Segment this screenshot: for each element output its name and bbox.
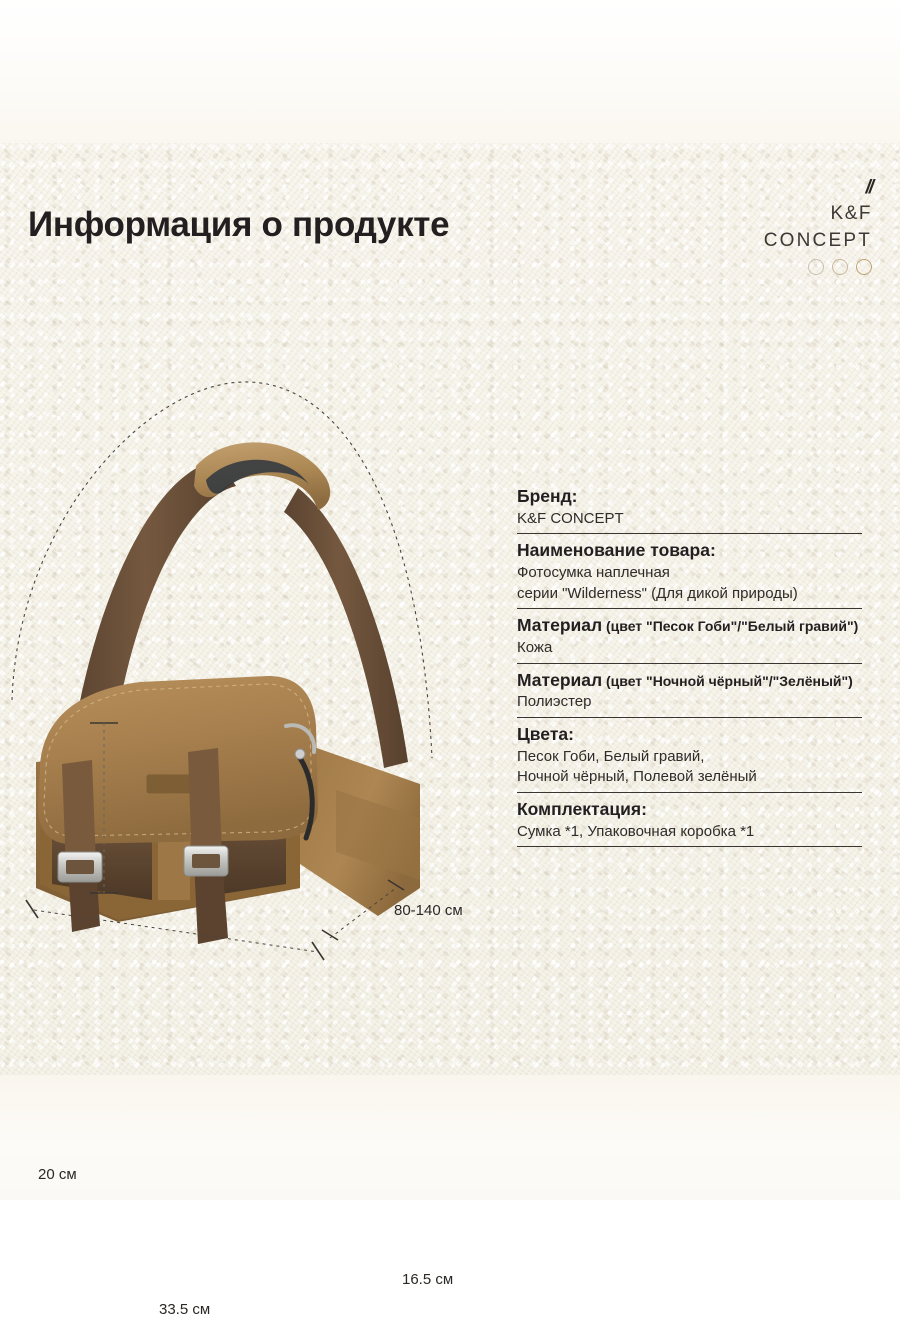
dimension-label-width: 33.5 см — [159, 1301, 210, 1318]
logo-kf-text: K&F — [742, 204, 872, 223]
spec-divider-3 — [517, 663, 862, 664]
logo-circle-icon-2 — [832, 259, 848, 275]
spec-value-material-polyester: Полиэстер — [517, 692, 880, 717]
logo-dots — [742, 259, 872, 275]
spec-term-material-leather: Материал (цвет "Песок Гоби"/"Белый грави… — [517, 614, 880, 638]
page-title: Информация о продукте — [28, 205, 449, 245]
brand-logo: // K&F CONCEPT — [742, 178, 872, 275]
top-white-band — [0, 0, 900, 145]
logo-slashes-icon: // — [742, 178, 872, 197]
spec-divider-2 — [517, 608, 862, 609]
spec-term-product-name: Наименование товара: — [517, 539, 880, 563]
spec-row-product-name: Наименование товара: Фотосумка наплечная… — [517, 539, 880, 609]
logo-circle-icon-3 — [856, 259, 872, 275]
spec-divider-4 — [517, 717, 862, 718]
dimension-label-height: 20 см — [38, 1166, 77, 1183]
width-cap-left — [26, 900, 38, 918]
dimension-label-depth: 16.5 см — [402, 1271, 453, 1288]
spec-term-brand: Бренд: — [517, 485, 880, 509]
spec-term-package-contents: Комплектация: — [517, 798, 880, 822]
spec-value-brand: K&F CONCEPT — [517, 509, 880, 534]
spec-value-material-leather: Кожа — [517, 638, 880, 663]
bottom-white-band — [0, 1075, 900, 1200]
logo-concept-text: CONCEPT — [742, 231, 872, 250]
spec-value-colors: Песок Гоби, Белый гравий, Ночной чёрный,… — [517, 747, 880, 792]
logo-circle-icon-1 — [808, 259, 824, 275]
product-image-area: 80-140 см 20 см 33.5 см 16.5 см — [0, 360, 500, 1000]
spec-row-material-polyester: Материал (цвет "Ночной чёрный"/"Зелёный"… — [517, 669, 880, 718]
spec-divider-1 — [517, 533, 862, 534]
spec-row-material-leather: Материал (цвет "Песок Гоби"/"Белый грави… — [517, 614, 880, 663]
spec-term-material-polyester: Материал (цвет "Ночной чёрный"/"Зелёный"… — [517, 669, 880, 693]
spec-value-package-contents: Сумка *1, Упаковочная коробка *1 — [517, 822, 880, 847]
specifications-table: Бренд: K&F CONCEPT Наименование товара: … — [517, 485, 880, 852]
buckle-right-inner — [192, 854, 220, 868]
dimension-label-strap: 80-140 см — [394, 902, 463, 919]
product-info-page: Информация о продукте // K&F CONCEPT — [0, 0, 900, 1200]
spec-divider-5 — [517, 792, 862, 793]
spec-row-brand: Бренд: K&F CONCEPT — [517, 485, 880, 534]
buckle-left-inner — [66, 860, 94, 874]
zipper-slider — [295, 749, 305, 759]
spec-row-package-contents: Комплектация: Сумка *1, Упаковочная коро… — [517, 798, 880, 847]
spec-row-colors: Цвета: Песок Гоби, Белый гравий, Ночной … — [517, 723, 880, 793]
spec-divider-6 — [517, 846, 862, 847]
depth-cap-bottom — [322, 930, 338, 940]
spec-term-colors: Цвета: — [517, 723, 880, 747]
spec-value-product-name: Фотосумка наплечная серии "Wilderness" (… — [517, 563, 880, 608]
